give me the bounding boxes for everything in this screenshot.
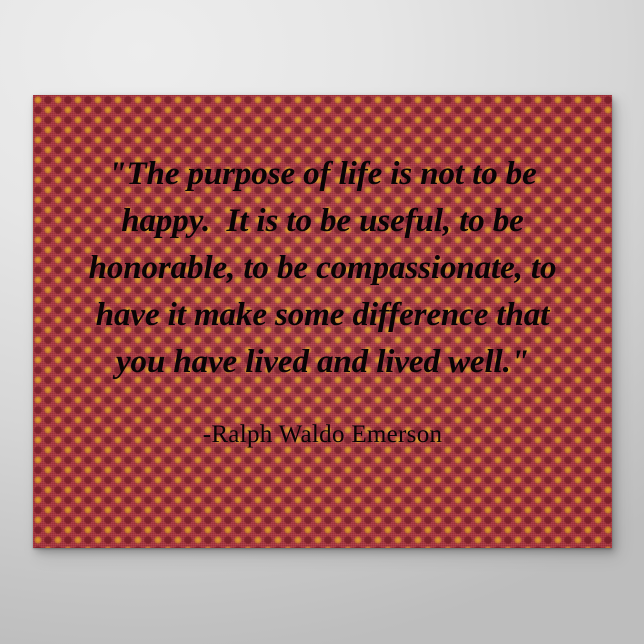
quote-line-3: honorable, to be compassionate, to — [41, 245, 604, 292]
quote-line-1: "The purpose of life is not to be — [41, 151, 604, 198]
quote-poster[interactable]: "The purpose of life is not to be happy.… — [33, 95, 612, 548]
quote-attribution: -Ralph Waldo Emerson — [203, 420, 443, 450]
quote-line-5: you have lived and lived well." — [41, 339, 604, 386]
quote-line-4: have it make some difference that — [41, 292, 604, 339]
quote-line-2: happy. It is to be useful, to be — [41, 198, 604, 245]
poster-preview-canvas: "The purpose of life is not to be happy.… — [0, 0, 644, 644]
poster-text-layer: "The purpose of life is not to be happy.… — [33, 95, 612, 548]
quote-text: "The purpose of life is not to be happy.… — [33, 151, 612, 386]
